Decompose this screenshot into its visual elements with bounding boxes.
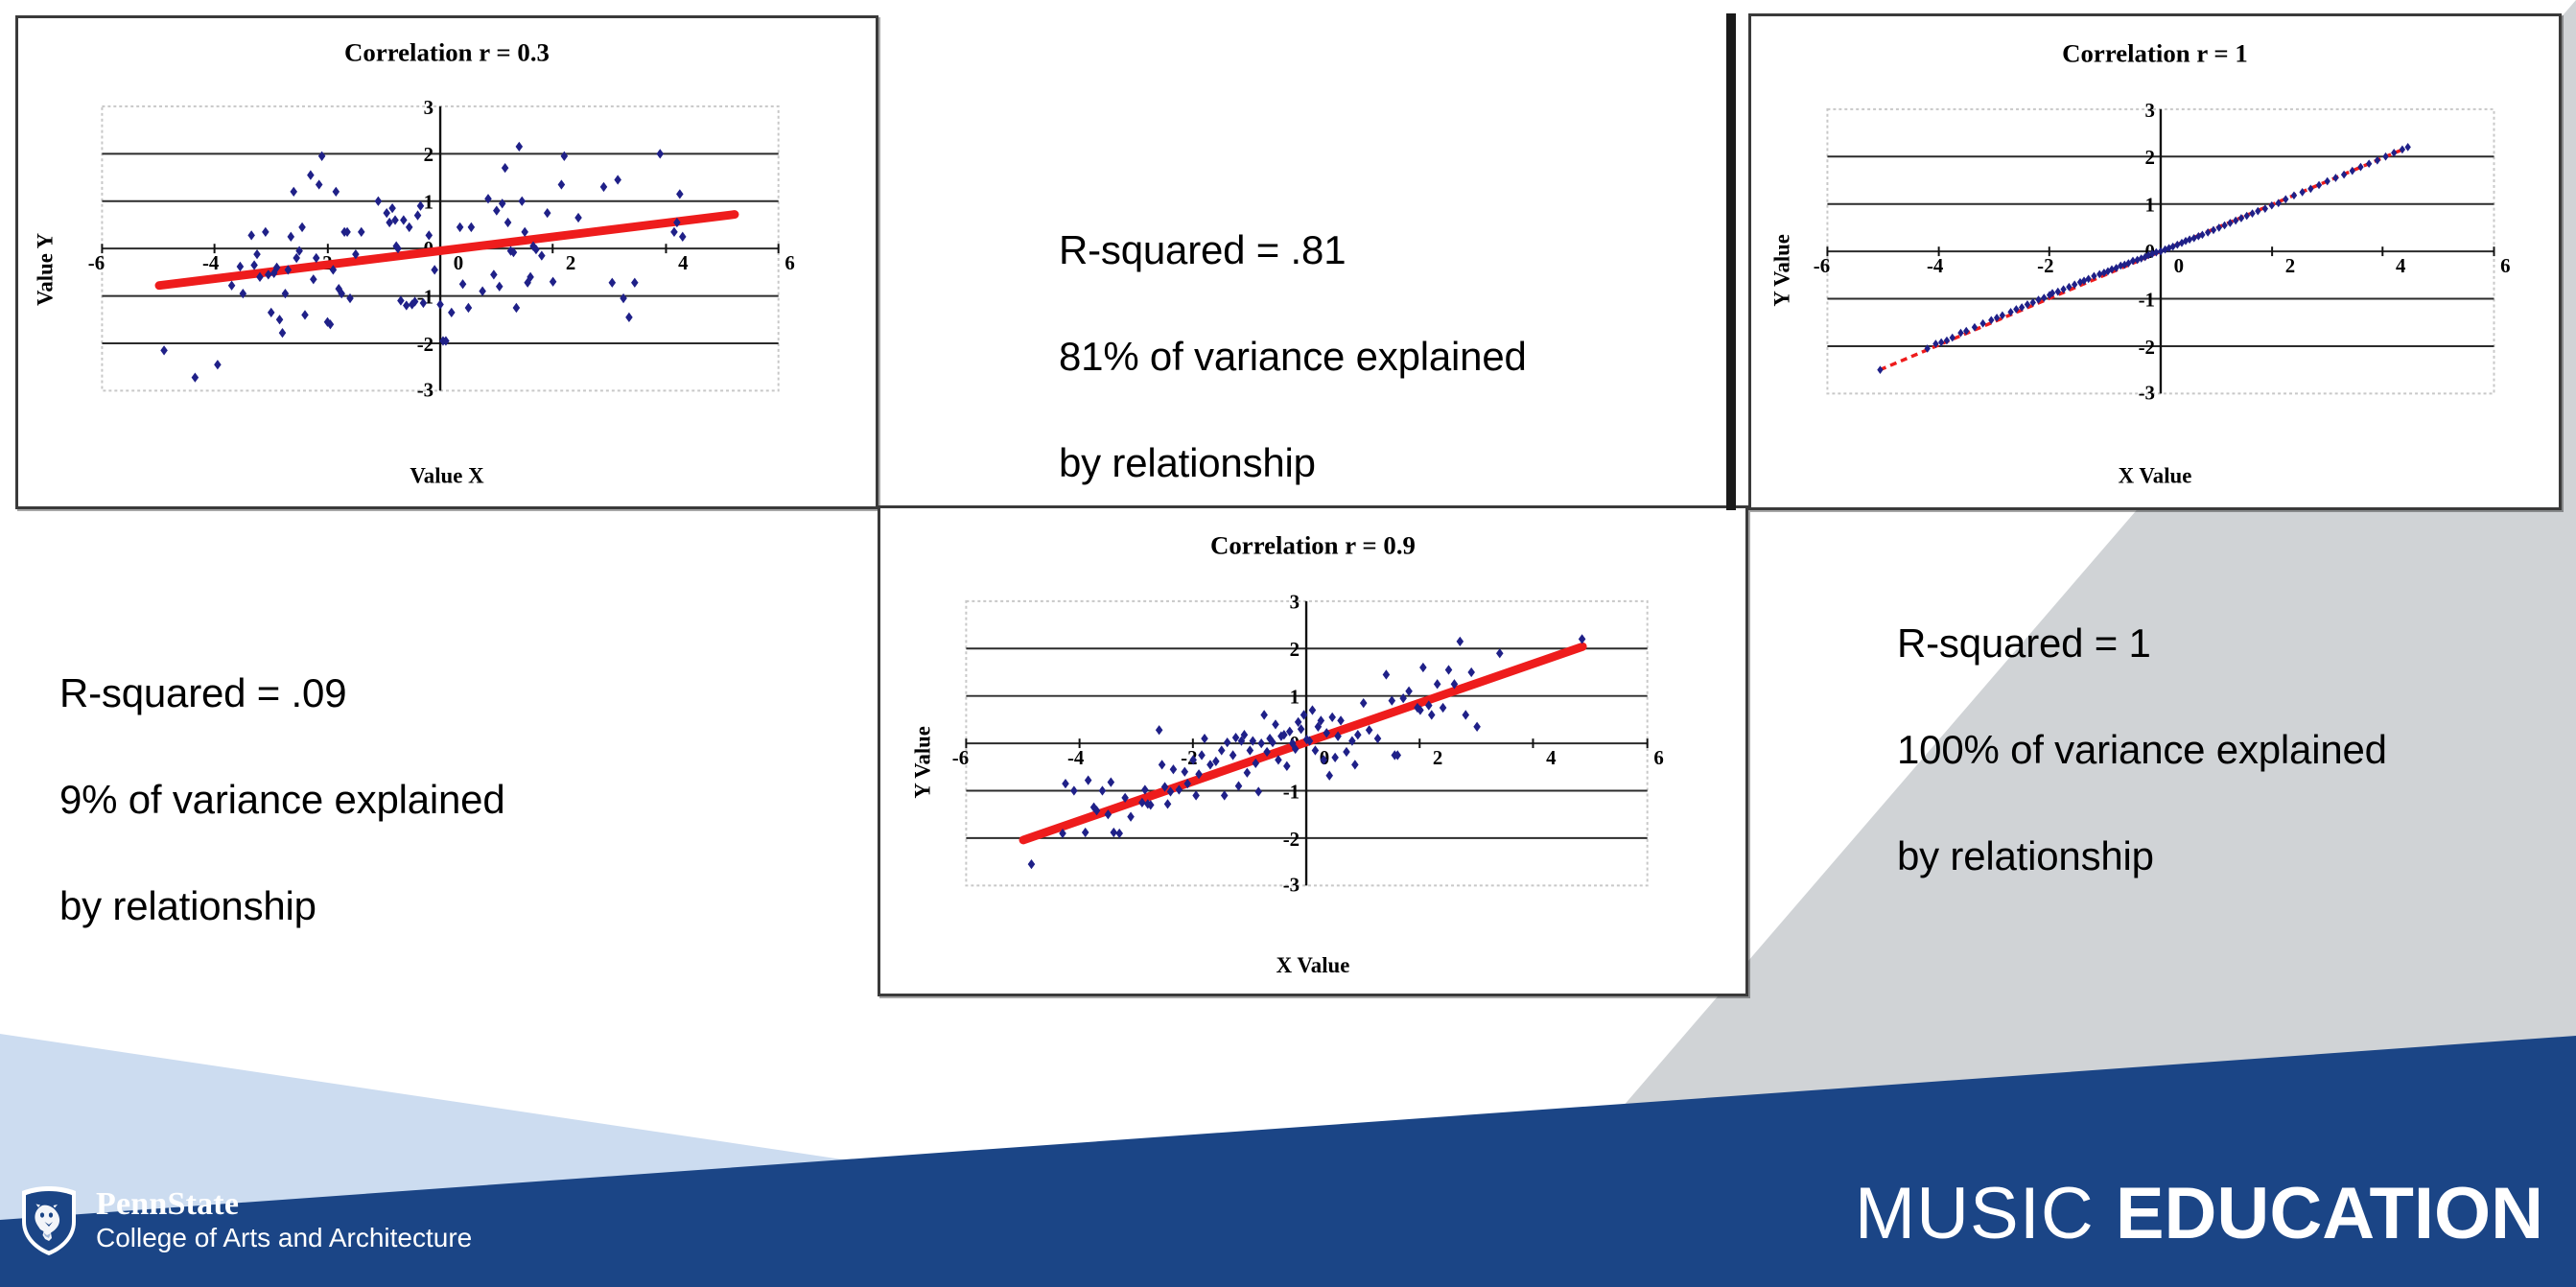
svg-text:-4: -4 — [1067, 747, 1085, 769]
scatter-chart-r03: Correlation r = 0.3 Value Y Value X — [18, 18, 876, 506]
chart-title: Correlation r = 1 — [2062, 38, 2248, 67]
x-axis-label: X Value — [1276, 953, 1350, 977]
svg-text:4: 4 — [2396, 255, 2406, 277]
svg-text:6: 6 — [1653, 747, 1663, 769]
svg-text:-4: -4 — [1927, 255, 1944, 277]
note-line-3: by relationship — [1897, 830, 2387, 882]
left-accent-bar — [1726, 13, 1736, 510]
note-line-3: by relationship — [1059, 436, 1527, 489]
svg-text:6: 6 — [2500, 255, 2510, 277]
plot-area: -6 -4 -2 0 2 4 6 3 2 1 0 -1 -2 -3 — [88, 97, 795, 401]
svg-text:3: 3 — [2145, 100, 2155, 122]
svg-text:4: 4 — [1546, 747, 1557, 769]
chart-card-correlation-09: Correlation r = 0.9 Y Value X Value — [878, 505, 1748, 996]
scatter-chart-r09: Correlation r = 0.9 Y Value X Value — [880, 508, 1745, 994]
chart-card-correlation-03: Correlation r = 0.3 Value Y Value X — [15, 15, 878, 509]
svg-text:0: 0 — [454, 252, 463, 274]
y-axis-label: Y Value — [1770, 234, 1794, 307]
svg-text:-1: -1 — [1283, 781, 1300, 803]
chart-card-correlation-1: Correlation r = 1 Y Value X Value — [1748, 13, 2562, 510]
chart-title: Correlation r = 0.3 — [344, 38, 550, 67]
svg-text:2: 2 — [2145, 147, 2155, 169]
note-line-2: 9% of variance explained — [59, 773, 505, 826]
svg-text:2: 2 — [424, 144, 433, 166]
scatter-chart-r1: Correlation r = 1 Y Value X Value — [1751, 16, 2559, 507]
y-axis-label: Value Y — [34, 233, 58, 306]
penn-state-lion-shield-icon — [19, 1185, 79, 1256]
note-line-1: R-squared = .81 — [1059, 223, 1527, 276]
note-line-2: 81% of variance explained — [1059, 330, 1527, 383]
penn-state-wordmark: PennState College of Arts and Architectu… — [96, 1187, 472, 1254]
svg-text:-3: -3 — [2139, 382, 2155, 404]
svg-text:-2: -2 — [417, 334, 433, 356]
svg-text:-2: -2 — [1283, 829, 1300, 851]
svg-text:-2: -2 — [2037, 255, 2053, 277]
svg-text:0: 0 — [2174, 255, 2184, 277]
svg-text:-6: -6 — [1814, 255, 1830, 277]
svg-text:1: 1 — [2145, 195, 2155, 217]
svg-text:3: 3 — [1290, 592, 1300, 614]
svg-text:-6: -6 — [952, 747, 969, 769]
penn-state-logo: PennState College of Arts and Architectu… — [19, 1185, 472, 1256]
svg-text:2: 2 — [1290, 639, 1300, 661]
note-line-2: 100% of variance explained — [1897, 723, 2387, 776]
svg-text:4: 4 — [678, 252, 689, 274]
plot-area: -6 -4 -2 0 2 4 6 3 2 1 0 -1 -2 -3 — [1814, 100, 2511, 404]
svg-text:-6: -6 — [88, 252, 105, 274]
svg-text:2: 2 — [1433, 747, 1442, 769]
slide: Correlation r = 0.3 Value Y Value X — [0, 0, 2576, 1287]
svg-text:-4: -4 — [202, 252, 220, 274]
footer-title: MUSIC EDUCATION — [1855, 1178, 2543, 1251]
svg-text:2: 2 — [566, 252, 575, 274]
footer-title-bold: EDUCATION — [2116, 1173, 2543, 1254]
svg-text:1: 1 — [1290, 687, 1300, 709]
note-r-squared-81: R-squared = .81 81% of variance explaine… — [1059, 171, 1527, 543]
y-axis-label: Y Value — [911, 726, 935, 799]
svg-text:-3: -3 — [417, 379, 433, 401]
svg-text:3: 3 — [424, 97, 433, 119]
note-r-squared-09: R-squared = .09 9% of variance explained… — [59, 614, 505, 986]
note-line-1: R-squared = .09 — [59, 667, 505, 719]
svg-text:6: 6 — [785, 252, 794, 274]
svg-text:2: 2 — [2285, 255, 2295, 277]
note-line-3: by relationship — [59, 879, 505, 932]
x-axis-label: Value X — [410, 463, 484, 487]
svg-text:-3: -3 — [1283, 874, 1300, 896]
plot-area: -6 -4 -2 0 2 4 6 3 2 1 0 -1 -2 -3 — [952, 592, 1664, 896]
svg-text:-1: -1 — [2139, 289, 2155, 311]
note-r-squared-1: R-squared = 1 100% of variance explained… — [1897, 564, 2387, 936]
svg-text:1: 1 — [424, 192, 433, 214]
svg-text:-2: -2 — [2139, 337, 2155, 359]
note-line-1: R-squared = 1 — [1897, 617, 2387, 669]
brand-name: PennState — [96, 1187, 472, 1222]
college-name: College of Arts and Architecture — [96, 1222, 472, 1254]
x-axis-label: X Value — [2119, 463, 2192, 487]
footer-title-light: MUSIC — [1855, 1173, 2116, 1254]
